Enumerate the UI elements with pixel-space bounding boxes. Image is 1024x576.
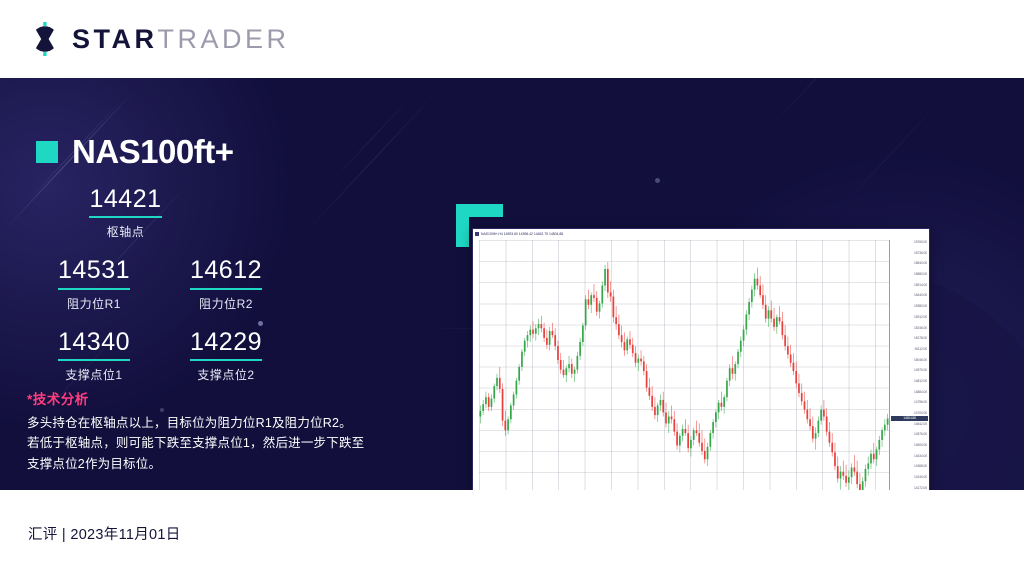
levels-row-resistance: 14531 阻力位R1 14612 阻力位R2 xyxy=(28,257,308,311)
decorative-dot xyxy=(655,178,660,183)
analysis-heading: *技术分析 xyxy=(27,388,392,408)
streak-line xyxy=(760,78,897,139)
analysis-line-3: 支撑点位2作为目标位。 xyxy=(27,454,392,474)
price-axis-tick: 14884.00 xyxy=(893,391,927,394)
level-resistance-2: 14612 阻力位R2 xyxy=(160,257,292,311)
chart-titlebar: NAS100ft+,H4 14593.60 14596.42 14462.75 … xyxy=(473,229,929,239)
price-axis-tick: 14642.00 xyxy=(893,423,927,426)
hero-band: NAS100ft+ 14421 枢轴点 14531 阻力位R1 14612 xyxy=(0,78,1024,490)
price-axis-tick: 14756.00 xyxy=(893,401,927,404)
brand-logo: STARTRADER xyxy=(28,22,290,56)
price-axis-tick: 15760.00 xyxy=(893,241,927,244)
level-resistance-2-value: 14612 xyxy=(190,257,262,289)
levels-grid: 14421 枢轴点 14531 阻力位R1 14612 阻力位R2 xyxy=(28,186,308,383)
price-axis-tick: 15380.00 xyxy=(893,305,927,308)
price-axis-tick: 14434.00 xyxy=(893,455,927,458)
price-axis-tick: 15640.00 xyxy=(893,262,927,265)
analysis-block: *技术分析 多头持仓在枢轴点以上，目标位为阻力位R1及阻力位R2。 若低于枢轴点… xyxy=(27,388,392,474)
price-axis-tick: 14500.00 xyxy=(893,444,927,447)
square-bullet-icon xyxy=(36,141,58,163)
info-column: NAS100ft+ 14421 枢轴点 14531 阻力位R1 14612 xyxy=(0,78,430,490)
asterisk-star-icon xyxy=(28,22,62,56)
level-resistance-1-label: 阻力位R1 xyxy=(28,295,160,312)
price-axis-tick: 15046.00 xyxy=(893,359,927,362)
level-pivot-value: 14421 xyxy=(89,186,161,218)
candlestick-series xyxy=(479,240,889,490)
slide-root: STARTRADER xyxy=(0,0,1024,576)
levels-row-support: 14340 支撑点位1 14229 支撑点位2 xyxy=(28,329,308,383)
price-axis-tick: 15312.00 xyxy=(893,316,927,319)
footer-text: 汇评 | 2023年11月01日 xyxy=(28,523,181,544)
level-resistance-2-label: 阻力位R2 xyxy=(160,295,292,312)
price-axis-tick: 15580.00 xyxy=(893,273,927,276)
levels-row-pivot: 14421 枢轴点 xyxy=(28,186,308,240)
brand-name-bold: STAR xyxy=(72,24,158,54)
price-axis-tick: 15112.00 xyxy=(893,348,927,351)
price-axis-tick: 14812.00 xyxy=(893,380,927,383)
level-resistance-1-value: 14531 xyxy=(58,257,130,289)
level-support-2: 14229 支撑点位2 xyxy=(160,329,292,383)
analysis-body: 多头持仓在枢轴点以上，目标位为阻力位R1及阻力位R2。 若低于枢轴点，则可能下跌… xyxy=(27,413,392,474)
price-axis-tick: 15178.00 xyxy=(893,337,927,340)
price-axis-tick: 14700.00 xyxy=(893,412,927,415)
brand-name-light: TRADER xyxy=(158,24,290,54)
price-axis-tick: 15246.00 xyxy=(893,327,927,330)
brand-wordmark: STARTRADER xyxy=(72,26,290,53)
price-axis-tick: 15514.00 xyxy=(893,284,927,287)
level-pivot-label: 枢轴点 xyxy=(68,223,183,240)
price-axis-tick: 15736.00 xyxy=(893,252,927,255)
analysis-line-2: 若低于枢轴点，则可能下跌至支撑点位1，然后进一步下跌至 xyxy=(27,433,392,453)
instrument-name: NAS100ft+ xyxy=(72,135,233,168)
instrument-heading: NAS100ft+ xyxy=(36,135,233,168)
page-header: STARTRADER xyxy=(0,0,1024,78)
price-axis-tick: 15440.00 xyxy=(893,294,927,297)
corner-bracket-top-left xyxy=(456,204,469,247)
price-axis: 15760.0015736.0015640.0015580.0015514.00… xyxy=(889,240,929,490)
page-footer: 汇评 | 2023年11月01日 xyxy=(0,490,1024,576)
level-support-2-value: 14229 xyxy=(190,329,262,361)
level-support-2-label: 支撑点位2 xyxy=(160,366,292,383)
level-resistance-1: 14531 阻力位R1 xyxy=(28,257,160,311)
analysis-line-1: 多头持仓在枢轴点以上，目标位为阻力位R1及阻力位R2。 xyxy=(27,413,392,433)
chart-window-icon xyxy=(475,232,479,236)
level-support-1: 14340 支撑点位1 xyxy=(28,329,160,383)
current-price-tag: 14504.88 xyxy=(891,416,928,421)
price-axis-tick: 14240.00 xyxy=(893,476,927,479)
level-support-1-value: 14340 xyxy=(58,329,130,361)
candlestick-plot xyxy=(479,240,889,490)
level-pivot: 14421 枢轴点 xyxy=(68,186,183,240)
price-axis-tick: 14368.00 xyxy=(893,465,927,468)
price-axis-tick: 14576.00 xyxy=(893,433,927,436)
chart-window[interactable]: NAS100ft+,H4 14593.60 14596.42 14462.75 … xyxy=(472,228,930,490)
chart-title-text: NAS100ft+,H4 14593.60 14596.42 14462.75 … xyxy=(481,232,563,236)
level-support-1-label: 支撑点位1 xyxy=(28,366,160,383)
price-axis-tick: 14970.00 xyxy=(893,369,927,372)
